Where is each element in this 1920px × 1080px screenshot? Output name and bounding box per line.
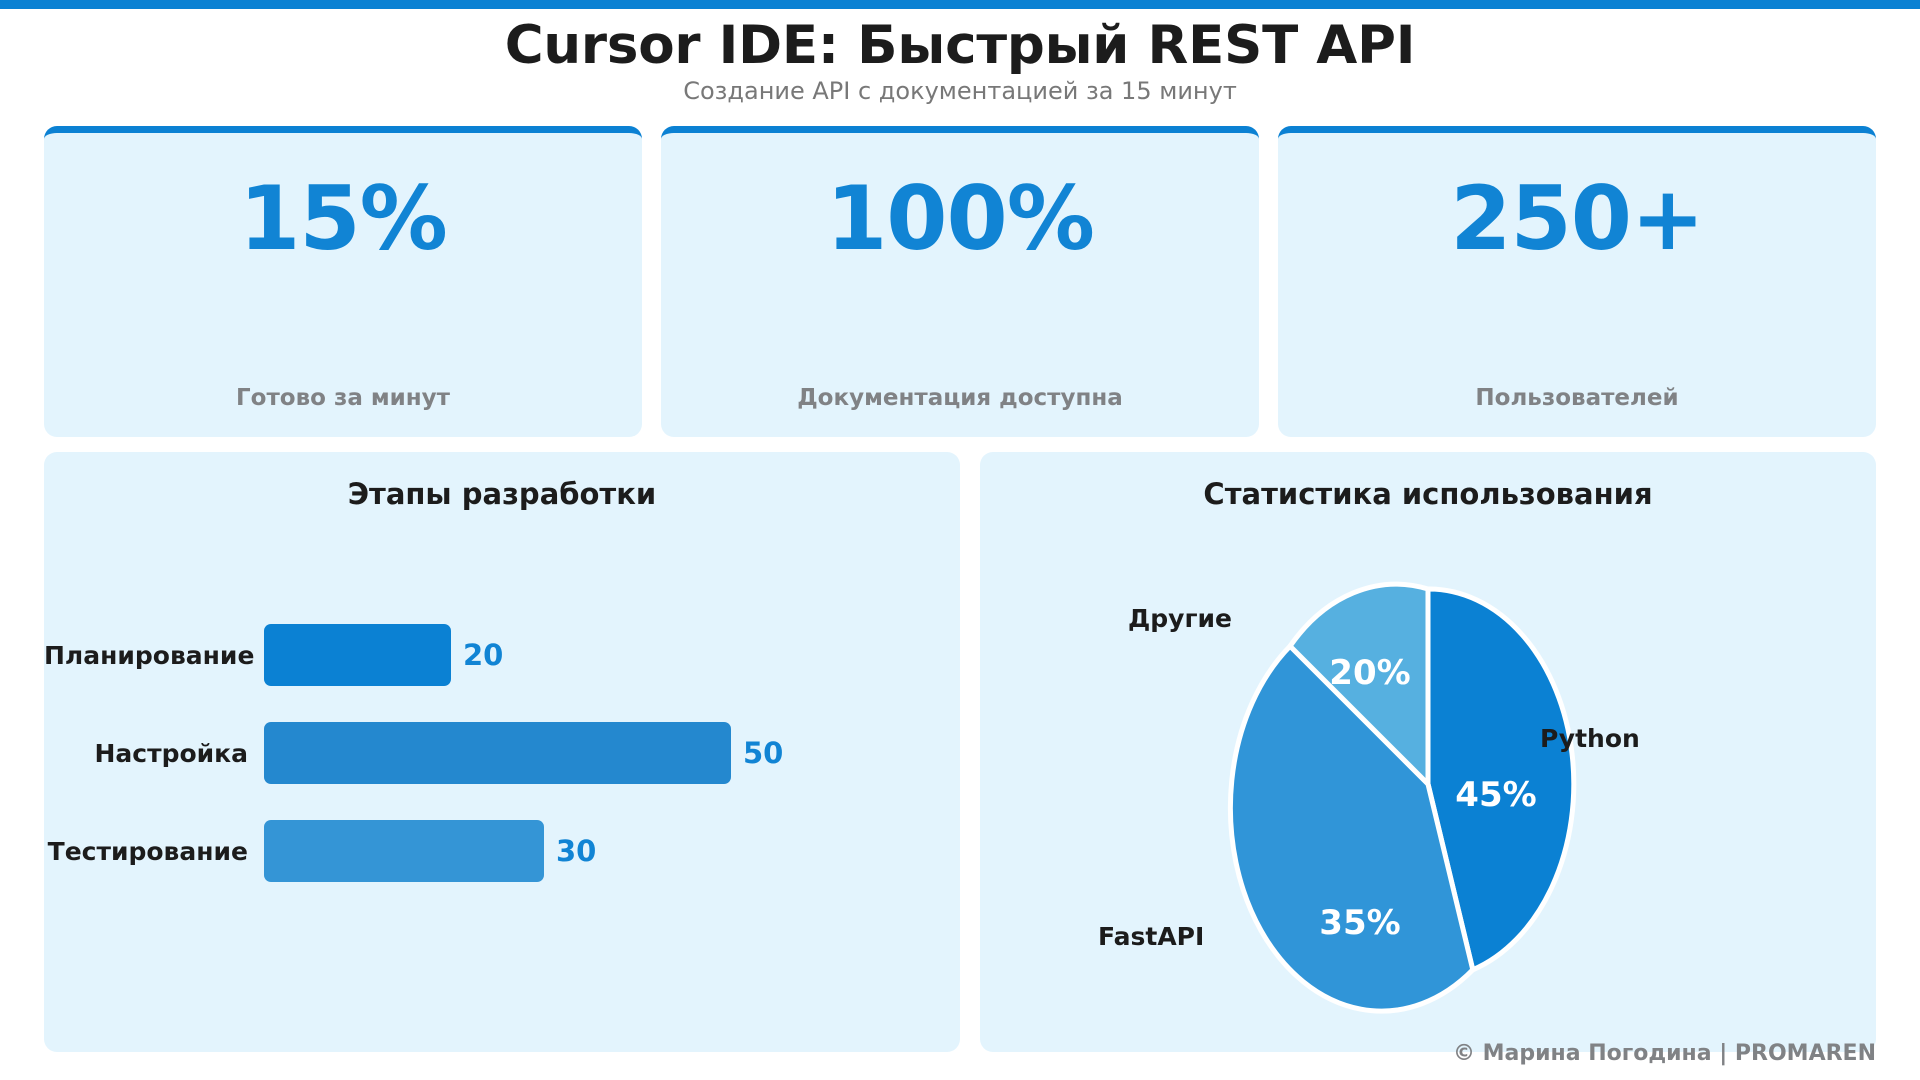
- pie-label-other: Другие: [1128, 604, 1232, 633]
- pie-label-fastapi: FastAPI: [1098, 922, 1204, 951]
- footer-credit: © Марина Погодина | PROMAREN: [1453, 1041, 1876, 1066]
- kpi-label: Пользователей: [1278, 385, 1876, 411]
- charts-row: Этапы разработки Планирование 20 Настрой…: [44, 452, 1876, 1052]
- pie-chart-panel: Статистика использования 45% 35% 20% Дру…: [980, 452, 1876, 1052]
- bar-fill: [264, 820, 544, 882]
- kpi-value: 100%: [826, 175, 1094, 263]
- kpi-card-row: 15% Готово за минут 100% Документация до…: [44, 126, 1876, 437]
- bar-fill: [264, 624, 451, 686]
- pie-value-python: 45%: [1455, 775, 1536, 815]
- page-title: Cursor IDE: Быстрый REST API: [0, 9, 1920, 74]
- page-header: Cursor IDE: Быстрый REST API Создание AP…: [0, 9, 1920, 114]
- bar-row: Тестирование 30: [44, 820, 960, 882]
- kpi-card-users: 250+ Пользователей: [1278, 126, 1876, 437]
- pie-chart-svg: 45% 35% 20%: [1218, 484, 1638, 1044]
- pie-value-other: 20%: [1329, 653, 1410, 693]
- bar-track: 20: [264, 624, 960, 686]
- bar-category-label: Настройка: [44, 739, 264, 768]
- pie-chart-plot: 45% 35% 20% Другие Python FastAPI: [980, 452, 1876, 1052]
- top-accent-bar: [0, 0, 1920, 9]
- page-subtitle: Создание API с документацией за 15 минут: [0, 74, 1920, 105]
- pie-value-fastapi: 35%: [1319, 903, 1400, 943]
- kpi-value: 250+: [1450, 175, 1703, 263]
- kpi-label: Документация доступна: [661, 385, 1259, 411]
- bar-value-label: 50: [743, 736, 783, 770]
- kpi-card-minutes: 15% Готово за минут: [44, 126, 642, 437]
- bar-track: 50: [264, 722, 960, 784]
- bar-fill: [264, 722, 731, 784]
- bar-row: Планирование 20: [44, 624, 960, 686]
- bar-category-label: Тестирование: [44, 837, 264, 866]
- kpi-value: 15%: [239, 175, 447, 263]
- kpi-label: Готово за минут: [44, 385, 642, 411]
- bar-chart-plot: Планирование 20 Настройка 50 Тестировани…: [44, 602, 960, 922]
- kpi-card-documentation: 100% Документация доступна: [661, 126, 1259, 437]
- bar-category-label: Планирование: [44, 641, 264, 670]
- bar-chart-title: Этапы разработки: [44, 477, 960, 511]
- bar-track: 30: [264, 820, 960, 882]
- bar-value-label: 20: [463, 638, 503, 672]
- pie-label-python: Python: [1540, 724, 1640, 753]
- bar-value-label: 30: [556, 834, 596, 868]
- bar-chart-panel: Этапы разработки Планирование 20 Настрой…: [44, 452, 960, 1052]
- bar-row: Настройка 50: [44, 722, 960, 784]
